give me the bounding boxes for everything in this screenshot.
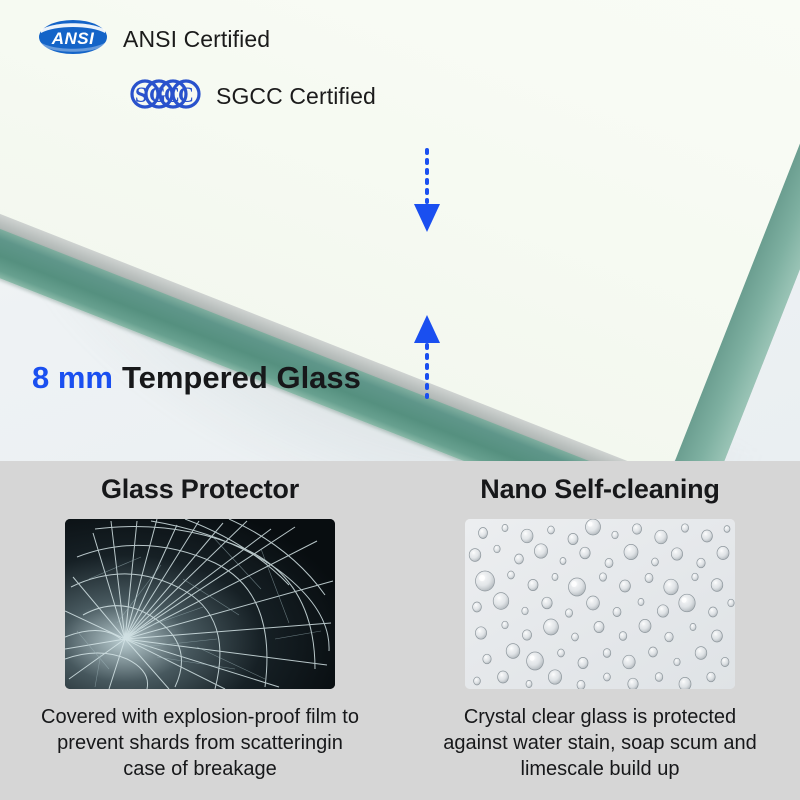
- features-section: Glass Protector: [0, 461, 800, 800]
- svg-text:ANSI: ANSI: [51, 29, 95, 48]
- feature-glass-protector: Glass Protector: [0, 461, 400, 800]
- water-droplets-image: [465, 519, 735, 689]
- ansi-logo-icon: ANSI: [37, 17, 109, 62]
- feature-nano-self-cleaning: Nano Self-cleaning: [400, 461, 800, 800]
- thickness-arrow-up-icon: [412, 313, 442, 399]
- certification-ansi: ANSI ANSI Certified: [37, 17, 270, 62]
- sgcc-logo-icon: S G C C: [128, 76, 202, 117]
- svg-text:C: C: [178, 82, 194, 107]
- certification-label: ANSI Certified: [123, 26, 270, 53]
- feature-title: Nano Self-cleaning: [480, 474, 719, 505]
- hero-section: ANSI ANSI Certified S: [0, 0, 800, 461]
- feature-caption: Crystal clear glass is protected against…: [440, 704, 760, 782]
- thickness-value: 8 mm: [32, 360, 113, 395]
- feature-caption: Covered with explosion-proof film to pre…: [40, 704, 360, 782]
- certification-sgcc: S G C C SGCC Certified: [128, 76, 376, 117]
- product-infographic: ANSI ANSI Certified S: [0, 0, 800, 800]
- thickness-caption: 8 mmTempered Glass: [32, 360, 361, 396]
- svg-text:S: S: [135, 82, 147, 107]
- certification-label: SGCC Certified: [216, 83, 376, 110]
- thickness-material: Tempered Glass: [113, 360, 361, 395]
- shattered-glass-image: [65, 519, 335, 689]
- feature-title: Glass Protector: [101, 474, 299, 505]
- thickness-arrow-down-icon: [412, 148, 442, 234]
